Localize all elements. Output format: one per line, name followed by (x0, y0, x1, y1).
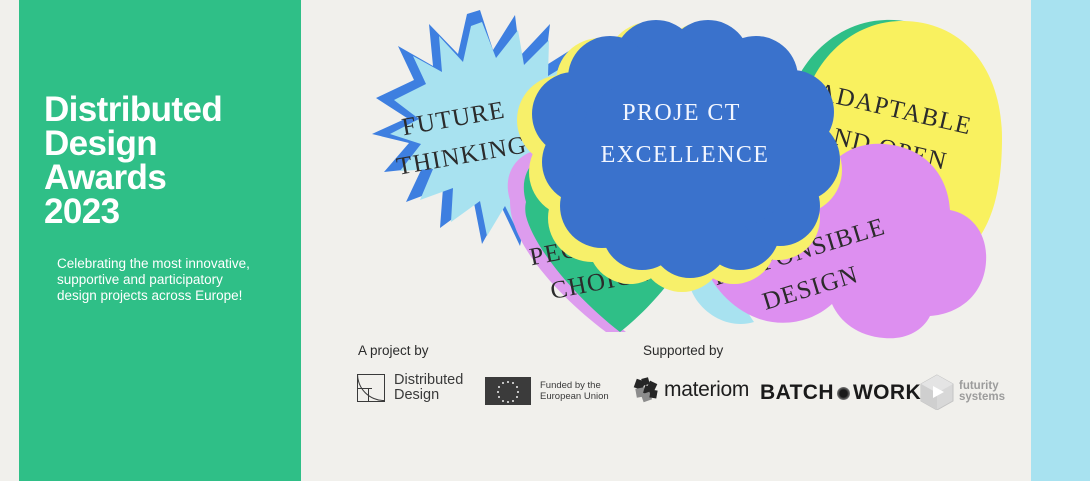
logo-futurity-systems[interactable]: futurity systems (920, 374, 1005, 410)
label-line-1: PROJE CT (622, 100, 740, 126)
logo-futurity-systems-label: futurity systems (959, 381, 1005, 404)
materiom-mark-icon (634, 378, 658, 402)
logo-distributed-design-label: Distributed Design (394, 373, 463, 402)
award-categories-illustration: FUTURE THINKING ADAPTABLE AND OPEN PEOPL… (330, 10, 1010, 340)
left-green-panel: Distributed Design Awards 2023 Celebrati… (19, 0, 301, 481)
logo-distributed-design[interactable]: Distributed Design (357, 373, 463, 402)
logo-batchworks-label: BATCH WORKS (760, 381, 935, 405)
distributed-design-mark-icon (357, 374, 385, 402)
batchworks-text-before: BATCH (760, 381, 834, 405)
eu-stars-circle (498, 381, 518, 401)
logo-materiom[interactable]: materiom (634, 378, 749, 402)
logo-funded-by-eu[interactable]: Funded by the European Union (485, 377, 609, 405)
logo-batchworks[interactable]: BATCH WORKS (760, 381, 935, 405)
logo-funded-by-eu-label: Funded by the European Union (540, 380, 609, 402)
right-accent-strip (1031, 0, 1090, 481)
label-line-2: EXCELLENCE (601, 142, 770, 168)
slide-canvas: Distributed Design Awards 2023 Celebrati… (0, 0, 1090, 481)
futurity-cube-icon (920, 374, 954, 410)
logo-materiom-label: materiom (664, 378, 749, 402)
batchworks-dot-icon (837, 387, 850, 400)
distributed-design-divider (358, 388, 372, 390)
page-title: Distributed Design Awards 2023 (44, 93, 289, 229)
caption-supported-by: Supported by (643, 343, 723, 358)
blob-project-excellence[interactable]: PROJE CT EXCELLENCE (517, 20, 842, 292)
page-subtitle: Celebrating the most innovative, support… (57, 256, 302, 304)
eu-flag-icon (485, 377, 531, 405)
caption-a-project-by: A project by (358, 343, 429, 358)
batchworks-text-after: WORKS (853, 381, 936, 405)
